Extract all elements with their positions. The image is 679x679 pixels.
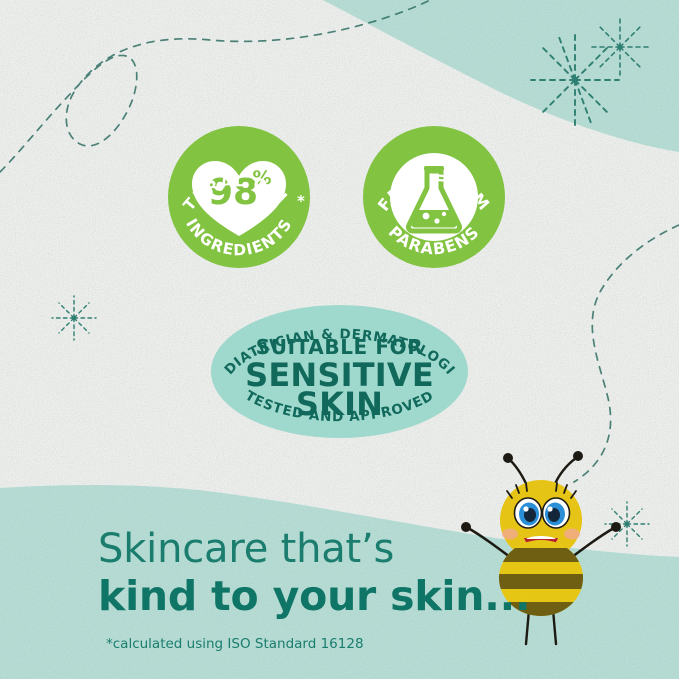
- starburst-small-bottom-right: [605, 502, 649, 546]
- headline-line-1: Skincare that’s: [98, 528, 558, 570]
- bee-hand-right: [611, 522, 621, 532]
- footnote-text: *calculated using ISO Standard 16128: [106, 636, 364, 652]
- natural-origin-asterisk: *: [297, 192, 305, 210]
- free-from-parabens-badge: FREE FROM PARABENS: [363, 126, 505, 268]
- starburst-small-left: [52, 296, 96, 340]
- bee-antenna-left: [503, 453, 513, 463]
- marketing-graphic: 98 % NATURAL ORIGIN INGREDIENTS *: [0, 0, 679, 679]
- bee-antenna-right: [573, 451, 583, 461]
- headline-block: Skincare that’s kind to your skin...: [98, 528, 558, 619]
- headline-line-2: kind to your skin...: [98, 574, 558, 619]
- starburst-small-top-right: [592, 18, 648, 76]
